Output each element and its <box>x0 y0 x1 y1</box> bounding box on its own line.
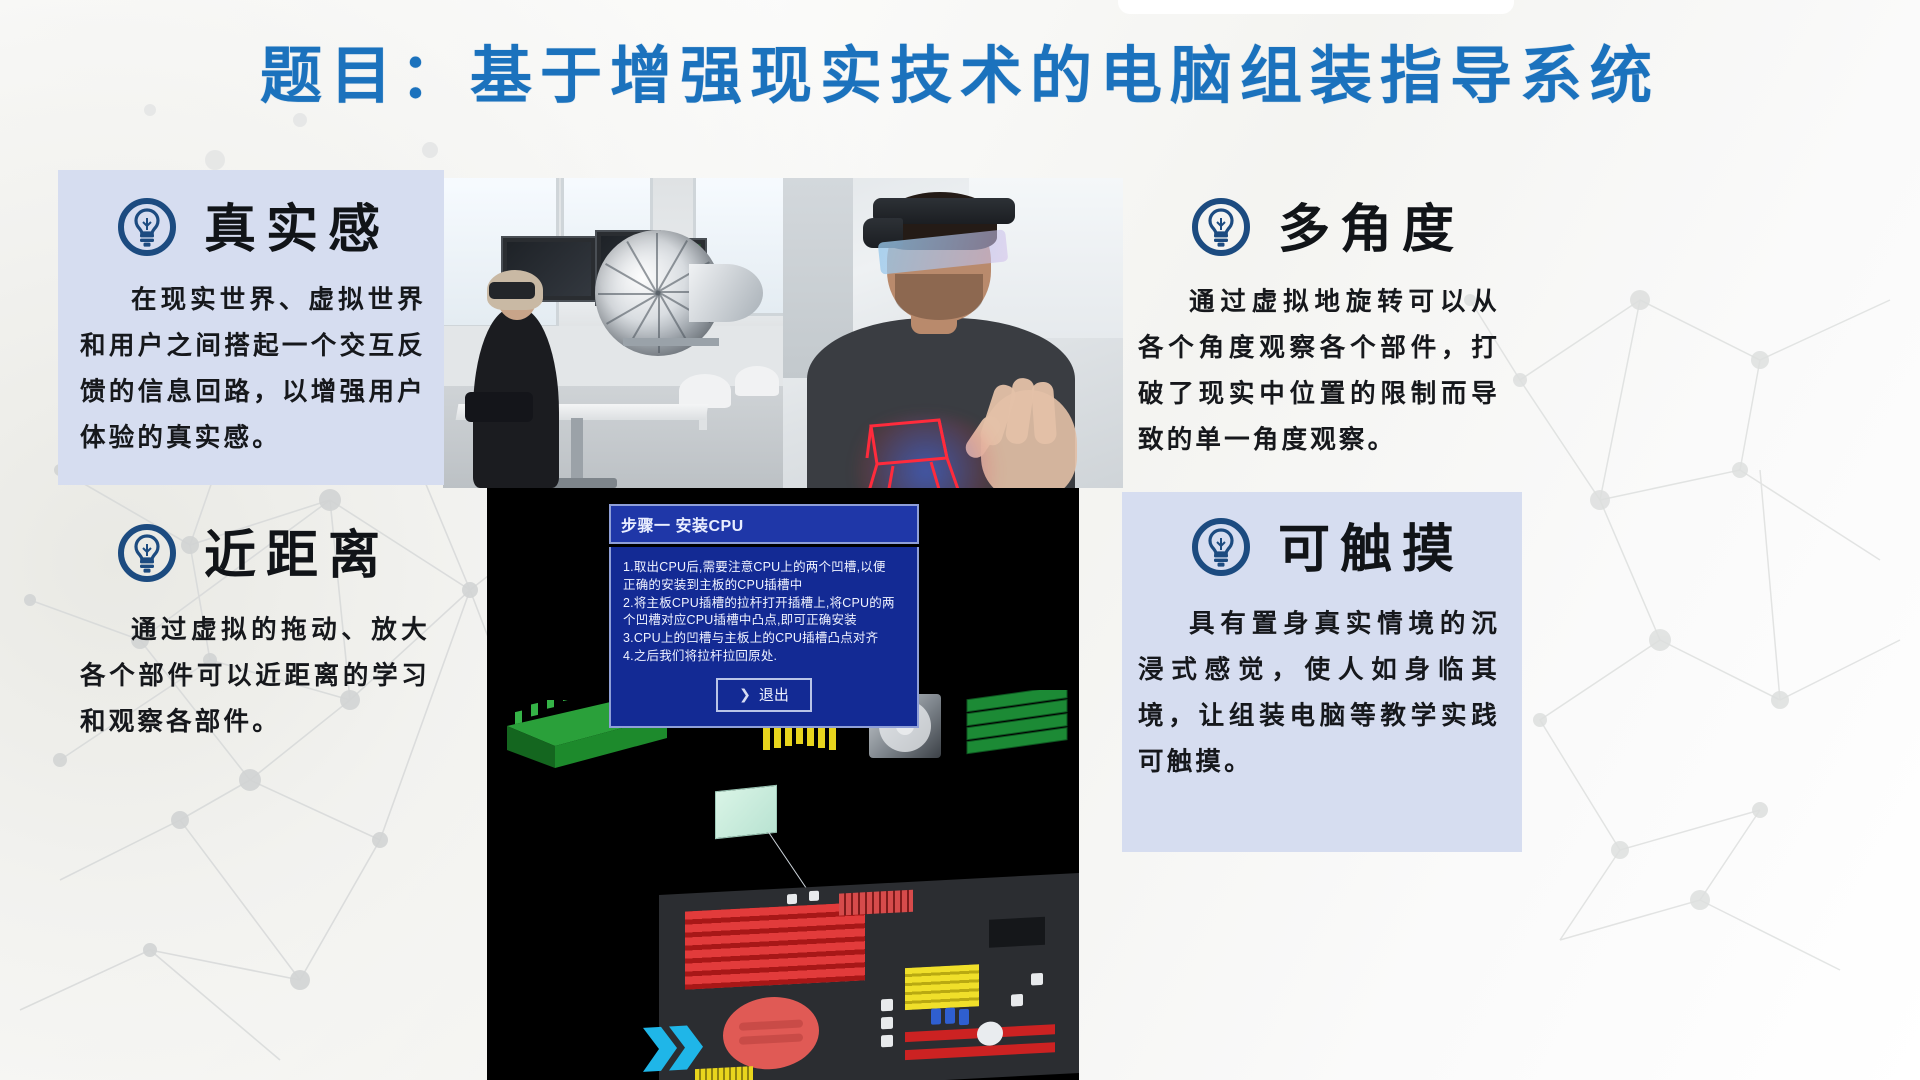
instruction-line: 2.将主板CPU插槽的拉杆打开插槽上,将CPU的两 <box>623 595 905 613</box>
card-angles: 多角度 通过虚拟地旋转可以从各个角度观察各个部件，打破了现实中位置的限制而导致的… <box>1122 170 1522 485</box>
card-angles-body: 通过虚拟地旋转可以从各个角度观察各个部件，打破了现实中位置的限制而导致的单一角度… <box>1138 279 1500 463</box>
instruction-line: 4.之后我们将拉杆拉回原处. <box>623 648 905 666</box>
ar-hologram-chair-photo <box>783 178 1123 488</box>
hologram-chair-icon <box>843 406 993 488</box>
card-angles-header: 多角度 <box>1190 196 1500 263</box>
card-closeup: 近距离 通过虚拟的拖动、放大各个部件可以近距离的学习和观察各部件。 <box>58 500 444 770</box>
card-closeup-title: 近距离 <box>204 530 390 582</box>
exit-button[interactable]: ❯ 退出 <box>716 678 812 712</box>
card-touch-title: 可触摸 <box>1278 524 1464 576</box>
card-realism-title: 真实感 <box>204 204 390 256</box>
card-angles-title: 多角度 <box>1278 204 1464 256</box>
exit-button-label: 退出 <box>759 684 789 705</box>
step-panel-body: 1.取出CPU后,需要注意CPU上的两个凹槽,以便 正确的安装到主板的CPU插槽… <box>609 547 919 728</box>
cpu-chip-model[interactable] <box>715 785 777 840</box>
card-realism: 真实感 在现实世界、虚拟世界和用户之间搭起一个交互反馈的信息回路，以增强用户体验… <box>58 170 444 485</box>
card-closeup-header: 近距离 <box>116 522 430 589</box>
cpu-step-panel: 步骤一 安装CPU 1.取出CPU后,需要注意CPU上的两个凹槽,以便 正确的安… <box>609 504 919 728</box>
instruction-line: 个凹槽对应CPU插槽中凸点,即可正确安装 <box>623 612 905 630</box>
card-touch-header: 可触摸 <box>1190 516 1500 583</box>
card-closeup-body: 通过虚拟的拖动、放大各个部件可以近距离的学习和观察各部件。 <box>80 607 430 745</box>
top-white-notch <box>1118 0 1514 14</box>
vr-engine-review-photo <box>443 178 783 488</box>
poster-root: 题目：基于增强现实技术的电脑组装指导系统 <box>0 0 1920 1080</box>
card-touch: 可触摸 具有置身真实情境的沉浸式感觉，使人如身临其境，让组装电脑等教学实践可触摸… <box>1122 492 1522 852</box>
card-touch-body: 具有置身真实情境的沉浸式感觉，使人如身临其境，让组装电脑等教学实践可触摸。 <box>1138 601 1500 785</box>
lightbulb-circle-icon <box>1190 516 1252 583</box>
lightbulb-circle-icon <box>1190 196 1252 263</box>
instruction-line: 1.取出CPU后,需要注意CPU上的两个凹槽,以便 <box>623 559 905 577</box>
poster-title-bar: 题目：基于增强现实技术的电脑组装指导系统 <box>0 22 1920 118</box>
card-realism-header: 真实感 <box>116 196 430 263</box>
page-title: 题目：基于增强现实技术的电脑组装指导系统 <box>260 25 1660 115</box>
lightbulb-circle-icon <box>116 522 178 589</box>
step-panel-title: 步骤一 安装CPU <box>609 504 919 544</box>
ar-assembly-scene: 步骤一 安装CPU 1.取出CPU后,需要注意CPU上的两个凹槽,以便 正确的安… <box>487 488 1079 1080</box>
instruction-line: 3.CPU上的凹槽与主板上的CPU插槽凸点对齐 <box>623 630 905 648</box>
motherboard-model[interactable] <box>659 873 1079 1080</box>
green-ram-bank-model[interactable] <box>965 690 1075 762</box>
card-realism-body: 在现实世界、虚拟世界和用户之间搭起一个交互反馈的信息回路，以增强用户体验的真实感… <box>80 277 430 461</box>
lightbulb-circle-icon <box>116 196 178 263</box>
instruction-line: 正确的安装到主板的CPU插槽中 <box>623 577 905 595</box>
chevron-right-icon: ❯ <box>739 686 751 703</box>
